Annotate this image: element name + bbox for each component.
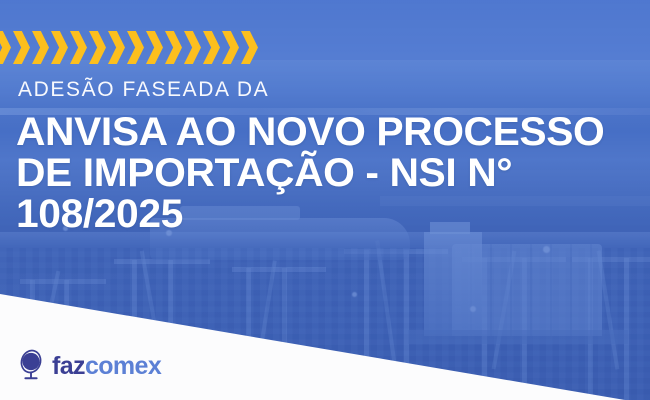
chevron-arrow-icon (203, 31, 220, 64)
headline-line-1: ANVISA AO NOVO PROCESSO (16, 112, 650, 153)
chevron-arrow-icon (165, 31, 182, 64)
fazcomex-logo[interactable]: fazcomex (16, 348, 161, 382)
chevron-arrow-icon (146, 31, 163, 64)
banner-kicker: ADESÃO FASEADA DA (18, 79, 269, 100)
chevron-arrow-icon (51, 31, 68, 64)
chevron-arrow-icon (127, 31, 144, 64)
chevron-arrow-icon (222, 31, 239, 64)
chevron-arrow-icon (70, 31, 87, 64)
chevron-band (0, 31, 268, 64)
chevron-arrow-icon (89, 31, 106, 64)
globe-on-stand-icon (16, 348, 50, 382)
logo-word-faz: faz (52, 352, 85, 380)
chevron-arrow-icon (32, 31, 49, 64)
chevron-arrow-icon (0, 31, 11, 64)
chevron-arrow-icon (241, 31, 258, 64)
chevron-arrow-icon (184, 31, 201, 64)
banner-headline: ANVISA AO NOVO PROCESSO DE IMPORTAÇÃO - … (16, 112, 650, 235)
chevron-arrow-icon (108, 31, 125, 64)
logo-wordmark: fazcomex (52, 354, 161, 379)
chevron-arrow-icon (13, 31, 30, 64)
headline-line-2: DE IMPORTAÇÃO - NSI N° (16, 153, 650, 194)
promo-banner: ADESÃO FASEADA DA ANVISA AO NOVO PROCESS… (0, 0, 650, 400)
headline-line-3: 108/2025 (16, 194, 650, 235)
logo-word-comex: comex (85, 352, 161, 380)
